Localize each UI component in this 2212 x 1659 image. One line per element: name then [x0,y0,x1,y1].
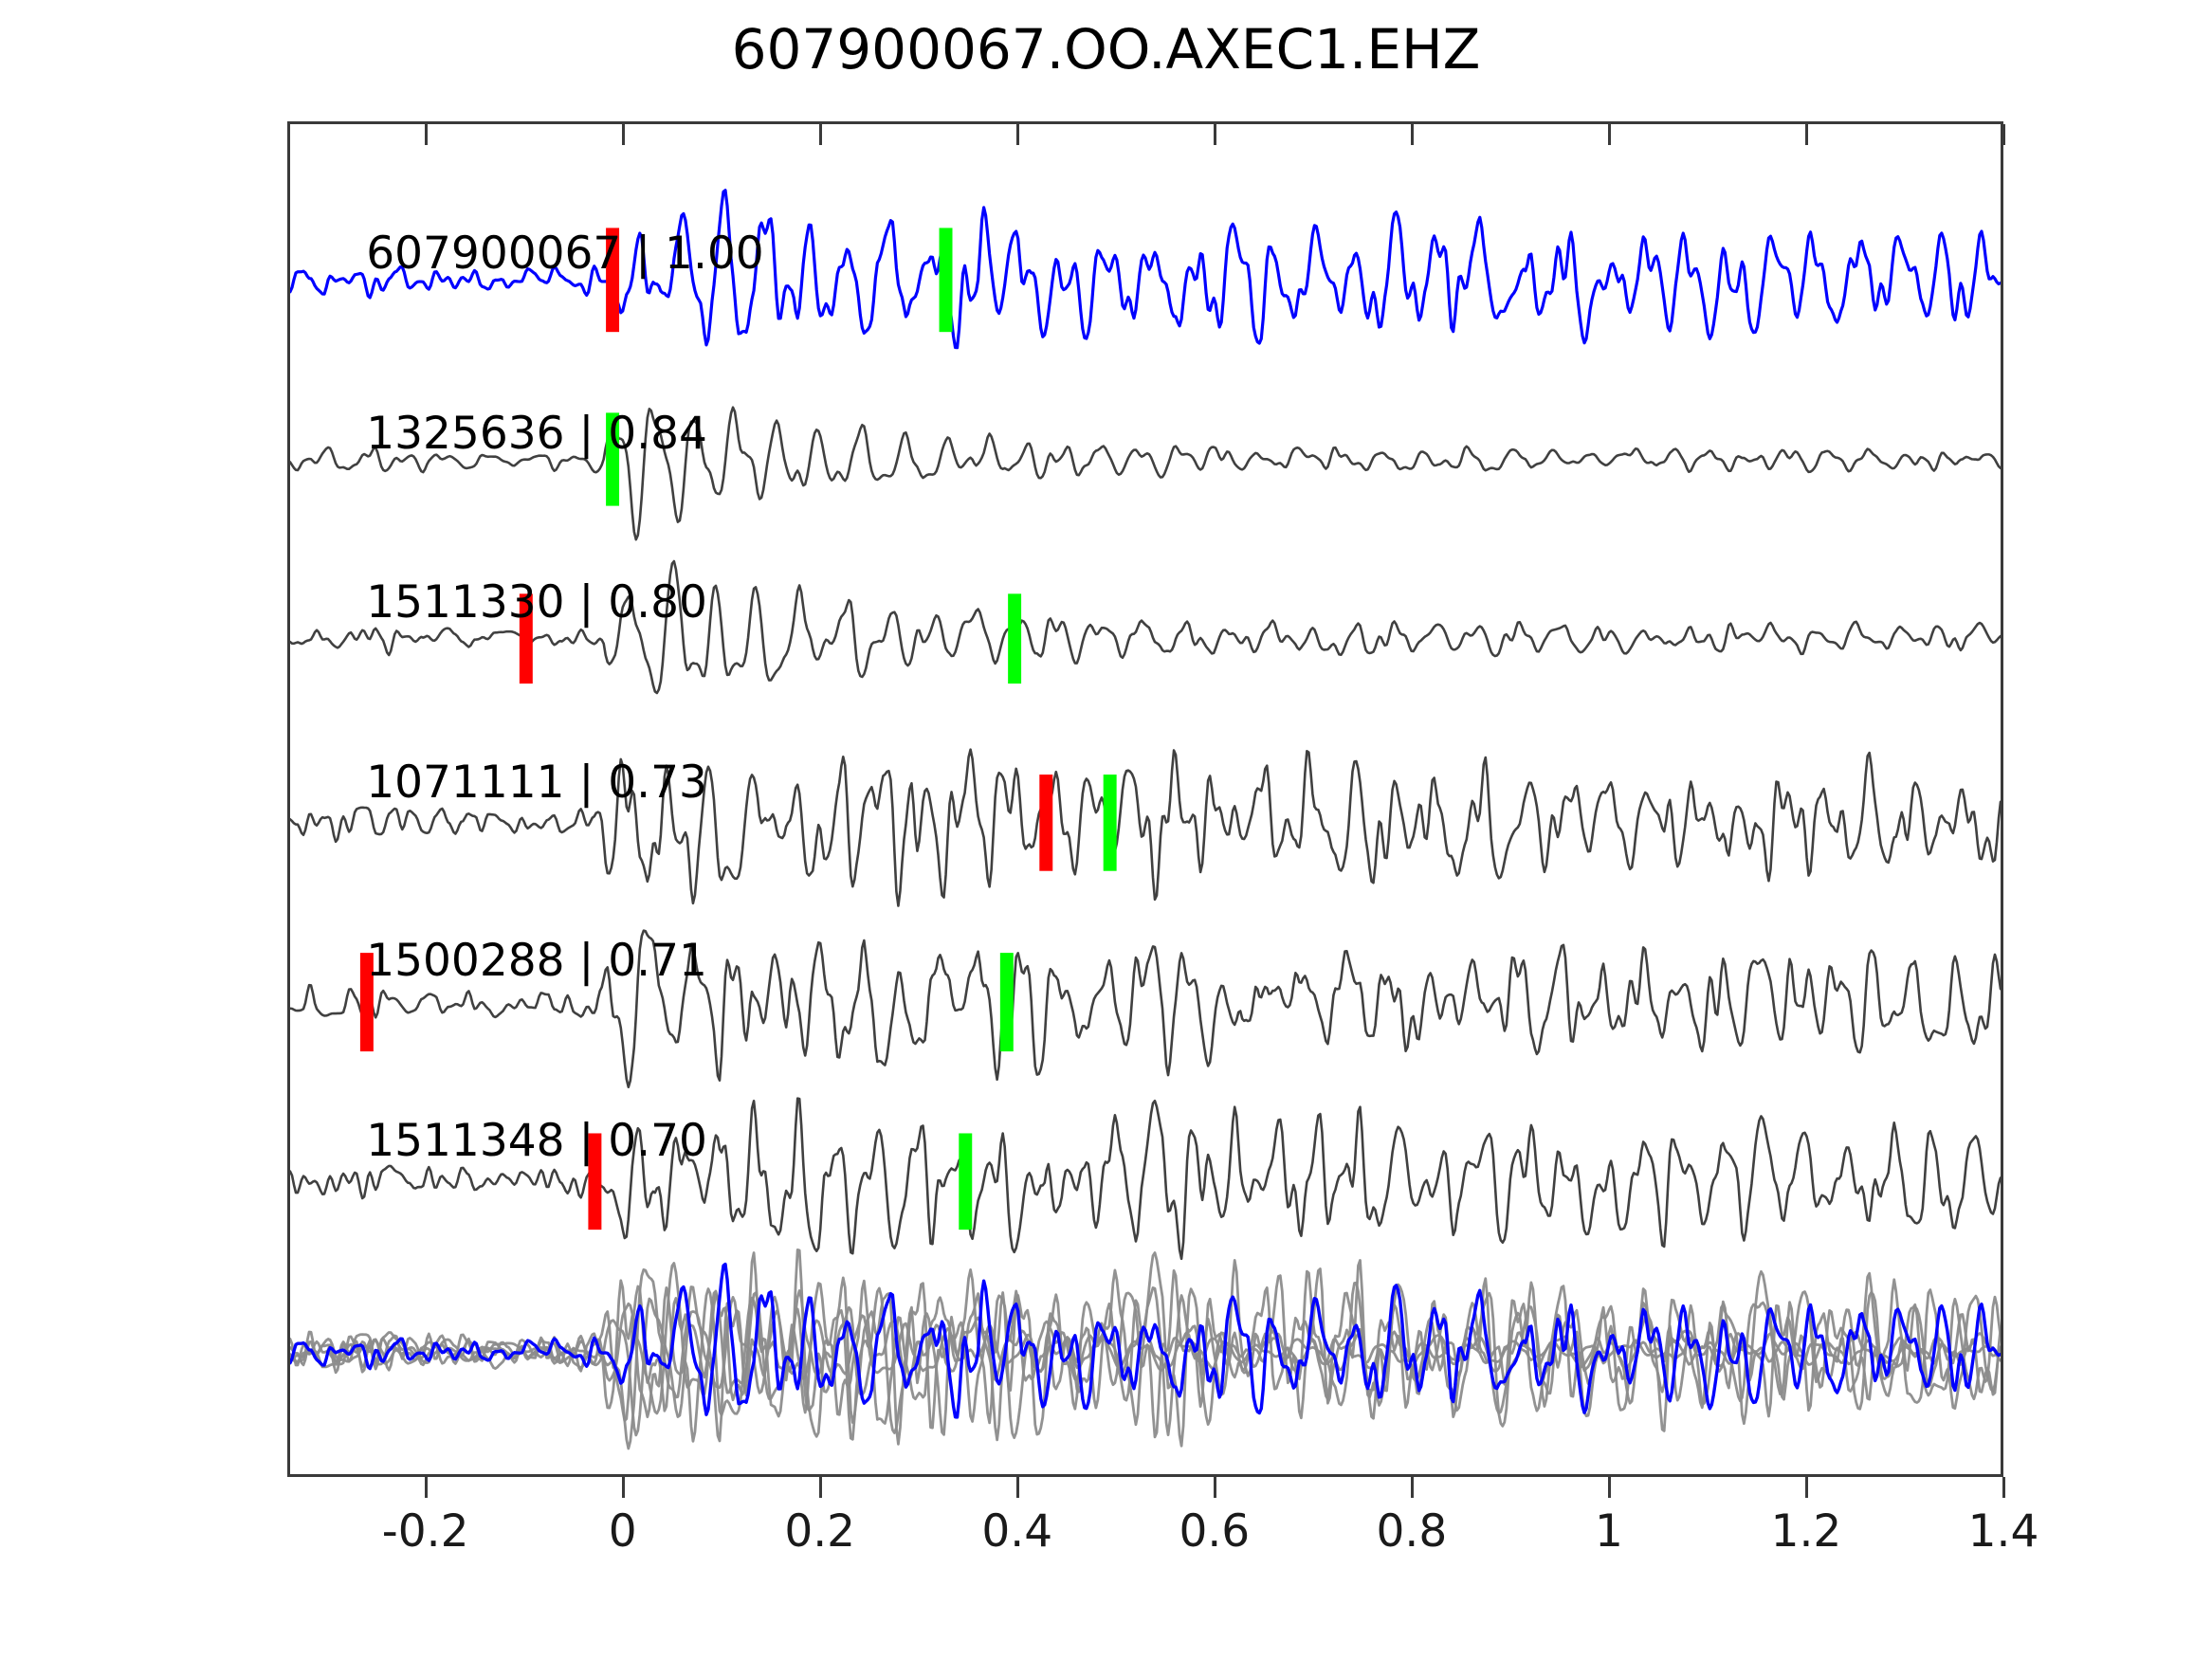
x-tick-top [425,124,428,145]
pick-marker-green [940,228,953,332]
x-tick-bottom [1016,1477,1019,1498]
x-tick-label: -0.2 [382,1505,469,1558]
waveform-line [290,191,2001,348]
x-tick-label: 0 [609,1505,637,1558]
x-tick-top [1608,124,1611,145]
page-title: 607900067.OO.AXEC1.EHZ [0,17,2212,82]
pick-marker-red [606,228,619,332]
x-tick-bottom [1411,1477,1414,1498]
plot-area [287,121,2003,1477]
x-tick-label: 0.6 [1179,1505,1250,1558]
x-tick-bottom [1805,1477,1808,1498]
x-tick-label: 0.8 [1376,1505,1447,1558]
x-tick-bottom [622,1477,625,1498]
pick-marker-red [520,593,533,684]
waveform-figure: 607900067.OO.AXEC1.EHZ 607900067 | 1.001… [0,0,2212,1659]
waveform-canvas [290,124,2001,1474]
x-tick-bottom [819,1477,822,1498]
x-tick-label: 0.2 [784,1505,855,1558]
x-tick-bottom [1608,1477,1611,1498]
x-tick-top [1805,124,1808,145]
x-tick-label: 1.4 [1968,1505,2039,1558]
x-tick-top [1411,124,1414,145]
x-tick-label: 1 [1595,1505,1623,1558]
pick-marker-red [1039,775,1052,871]
x-tick-bottom [425,1477,428,1498]
waveform-line [290,561,2001,693]
x-tick-bottom [1214,1477,1216,1498]
x-tick-top [622,124,625,145]
pick-marker-green [606,412,619,505]
x-tick-top [2002,124,2005,145]
waveform-line [290,1265,2001,1417]
pick-marker-green [959,1133,972,1230]
pick-marker-red [588,1133,601,1230]
plot-inner [290,124,2001,1474]
waveform-line [290,750,2001,906]
pick-marker-green [1000,953,1014,1051]
pick-marker-green [1104,775,1117,871]
x-tick-top [1214,124,1216,145]
pick-marker-green [1008,593,1021,684]
waveform-line [290,408,2001,539]
x-tick-top [819,124,822,145]
pick-marker-red [360,953,374,1051]
waveform-line [290,1099,2001,1259]
x-tick-label: 1.2 [1771,1505,1842,1558]
x-tick-label: 0.4 [981,1505,1052,1558]
x-tick-bottom [2002,1477,2005,1498]
x-tick-top [1016,124,1019,145]
waveform-line [290,931,2001,1087]
